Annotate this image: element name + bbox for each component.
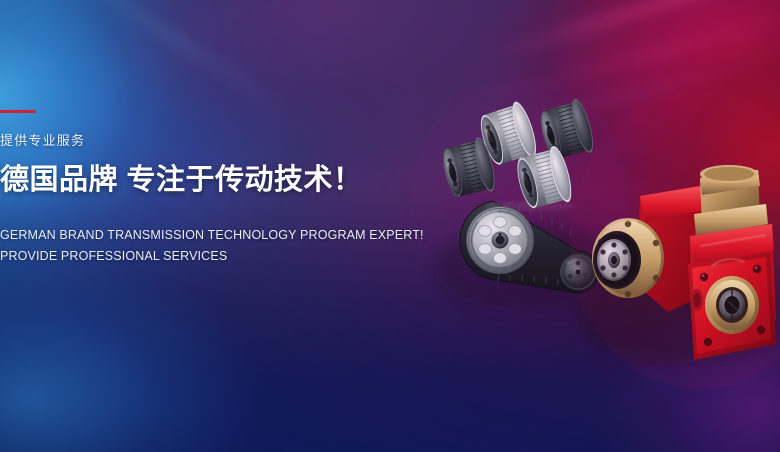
banner-subtitle-cn: 提供专业服务 (0, 134, 420, 147)
banner-copy: 提供专业服务 德国品牌 专注于传动技术！ GERMAN BRAND TRANSM… (0, 110, 420, 268)
banner-headline-cn: 德国品牌 专注于传动技术！ (0, 165, 420, 197)
red-accent-rule (0, 110, 36, 113)
banner-english-line-1: GERMAN BRAND TRANSMISSION TECHNOLOGY PRO… (0, 225, 420, 247)
banner-english-block: GERMAN BRAND TRANSMISSION TECHNOLOGY PRO… (0, 225, 420, 268)
hero-banner: 提供专业服务 德国品牌 专注于传动技术！ GERMAN BRAND TRANSM… (0, 0, 780, 452)
banner-english-line-2: PROVIDE PROFESSIONAL SERVICES (0, 246, 420, 268)
